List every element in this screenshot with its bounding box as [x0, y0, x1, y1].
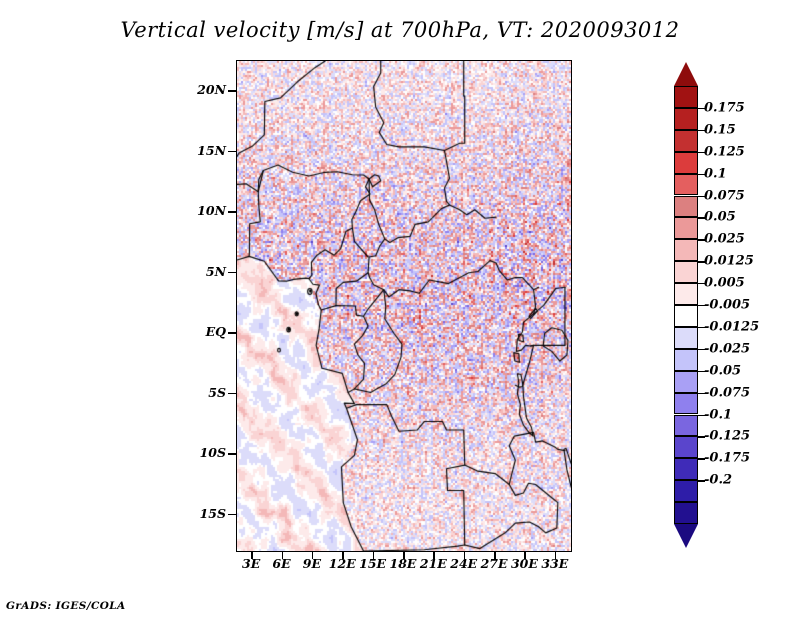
colorbar-cell [674, 196, 698, 218]
lon-tick-mark [373, 551, 375, 559]
country-borders-overlay [237, 61, 571, 551]
colorbar-tick-mark [698, 415, 705, 416]
colorbar-tick-label: -0.005 [704, 298, 750, 313]
colorbar-arrow-top [674, 62, 698, 86]
colorbar-cell [674, 393, 698, 415]
colorbar-cell [674, 174, 698, 196]
lat-tick-label: 10N [197, 203, 226, 218]
colorbar-tick-mark [698, 480, 705, 481]
colorbar-cell [674, 415, 698, 437]
lat-tick-mark [228, 211, 236, 213]
lat-tick-label: 5N [206, 264, 226, 279]
colorbar-cell [674, 502, 698, 524]
lon-tick-mark [433, 551, 435, 559]
lat-tick-mark [228, 90, 236, 92]
lat-tick-label: 10S [200, 445, 226, 460]
colorbar-cell [674, 349, 698, 371]
colorbar-tick-label: 0.0125 [704, 254, 754, 269]
colorbar-tick-label: 0.075 [704, 188, 745, 203]
colorbar-tick-mark [698, 261, 705, 262]
colorbar [674, 62, 698, 548]
colorbar-tick-mark [698, 174, 705, 175]
colorbar-cell [674, 436, 698, 458]
colorbar-tick-mark [698, 239, 705, 240]
colorbar-tick-label: -0.05 [704, 363, 741, 378]
lon-tick-mark [312, 551, 314, 559]
lat-tick-label: 20N [197, 82, 226, 97]
colorbar-cell [674, 86, 698, 108]
lat-tick-label: 15S [200, 506, 226, 521]
colorbar-tick-mark [698, 196, 705, 197]
colorbar-cell [674, 327, 698, 349]
colorbar-cell [674, 261, 698, 283]
lon-tick-mark [494, 551, 496, 559]
lon-tick-mark [342, 551, 344, 559]
colorbar-tick-mark [698, 130, 705, 131]
colorbar-cell [674, 130, 698, 152]
colorbar-tick-mark [698, 458, 705, 459]
lat-tick-mark [228, 393, 236, 395]
map-plot-area [236, 60, 572, 552]
grads-credit: GrADS: IGES/COLA [6, 600, 126, 612]
colorbar-tick-label: -0.1 [704, 407, 732, 422]
colorbar-cell [674, 371, 698, 393]
colorbar-tick-label: 0.1 [704, 166, 727, 181]
colorbar-tick-label: 0.125 [704, 144, 745, 159]
colorbar-cell [674, 458, 698, 480]
colorbar-tick-label: -0.025 [704, 341, 750, 356]
colorbar-tick-mark [698, 371, 705, 372]
page-title: Vertical velocity [m/s] at 700hPa, VT: 2… [0, 18, 800, 42]
lon-tick-mark [403, 551, 405, 559]
colorbar-cell [674, 108, 698, 130]
lat-tick-label: EQ [206, 324, 226, 339]
lon-tick-mark [524, 551, 526, 559]
lat-tick-mark [228, 151, 236, 153]
colorbar-tick-label: -0.175 [704, 451, 750, 466]
lat-tick-mark [228, 453, 236, 455]
colorbar-tick-mark [698, 349, 705, 350]
colorbar-tick-label: 0.005 [704, 276, 745, 291]
colorbar-tick-label: -0.125 [704, 429, 750, 444]
lat-tick-label: 15N [197, 143, 226, 158]
colorbar-tick-label: -0.2 [704, 473, 732, 488]
colorbar-tick-label: 0.15 [704, 122, 736, 137]
colorbar-tick-mark [698, 393, 705, 394]
colorbar-tick-mark [698, 305, 705, 306]
colorbar-tick-mark [698, 327, 705, 328]
colorbar-arrow-bottom [674, 524, 698, 548]
colorbar-cell [674, 283, 698, 305]
colorbar-tick-mark [698, 436, 705, 437]
colorbar-tick-label: 0.175 [704, 100, 745, 115]
colorbar-tick-label: -0.0125 [704, 319, 759, 334]
colorbar-tick-mark [698, 283, 705, 284]
colorbar-tick-label: 0.05 [704, 210, 736, 225]
colorbar-cell [674, 480, 698, 502]
lat-tick-mark [228, 332, 236, 334]
lat-tick-mark [228, 272, 236, 274]
colorbar-tick-mark [698, 152, 705, 153]
colorbar-cell [674, 239, 698, 261]
lon-tick-mark [464, 551, 466, 559]
lon-tick-mark [282, 551, 284, 559]
colorbar-tick-mark [698, 108, 705, 109]
lat-tick-label: 5S [208, 385, 226, 400]
colorbar-cell [674, 152, 698, 174]
lat-tick-mark [228, 514, 236, 516]
colorbar-cell [674, 305, 698, 327]
colorbar-tick-mark [698, 217, 705, 218]
lon-tick-mark [251, 551, 253, 559]
colorbar-tick-label: -0.075 [704, 385, 750, 400]
colorbar-cell [674, 217, 698, 239]
colorbar-tick-label: 0.025 [704, 232, 745, 247]
lon-tick-mark [555, 551, 557, 559]
